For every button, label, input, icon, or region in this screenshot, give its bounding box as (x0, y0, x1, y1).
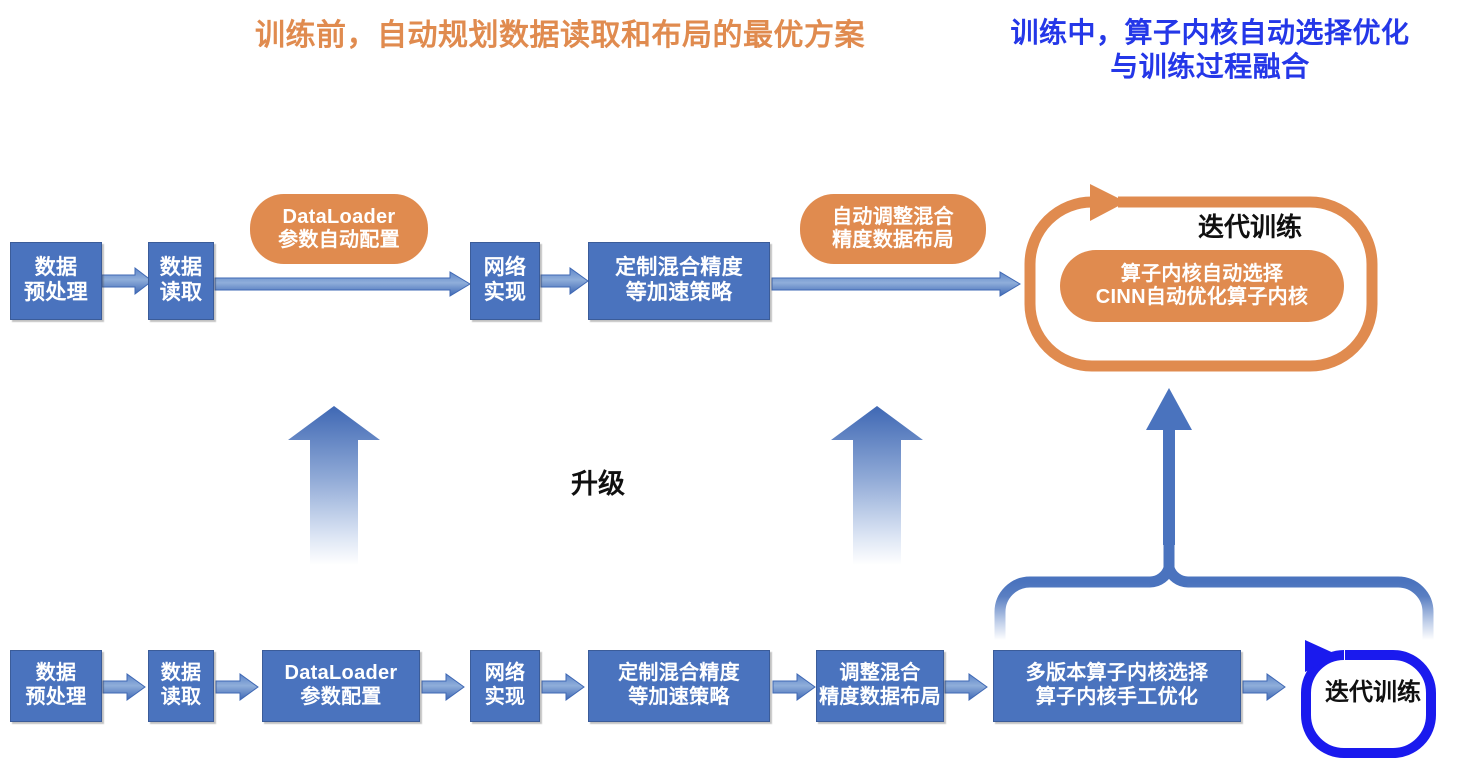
bottom-arrow-4 (542, 674, 584, 700)
bottom-box-data-preprocess[interactable]: 数据 预处理 (10, 650, 102, 722)
title-during-training: 训练中，算子内核自动选择优化 与训练过程融合 (955, 16, 1465, 84)
top-box-data-preprocess[interactable]: 数据 预处理 (10, 242, 102, 320)
merge-bracket-arrow (1000, 388, 1428, 640)
top-box-network-impl[interactable]: 网络 实现 (470, 242, 540, 320)
top-long-arrow-1 (215, 272, 470, 296)
bottom-arrow-2 (216, 674, 258, 700)
bottom-box-dataloader-config[interactable]: DataLoader 参数配置 (262, 650, 420, 722)
top-long-arrow-2 (772, 272, 1020, 296)
bottom-box-network-impl[interactable]: 网络 实现 (470, 650, 540, 722)
bottom-arrow-5 (773, 674, 815, 700)
top-loop-title: 迭代训练 (1120, 207, 1380, 244)
top-box-data-read[interactable]: 数据 读取 (148, 242, 214, 320)
top-arrow-2 (541, 268, 588, 294)
bottom-loop-title: 迭代训练 (1313, 672, 1433, 707)
top-loop-inner-kernel-pill[interactable]: 算子内核自动选择 CINN自动优化算子内核 (1060, 250, 1344, 322)
bottom-arrow-1 (103, 674, 145, 700)
bottom-box-mixed-precision[interactable]: 定制混合精度 等加速策略 (588, 650, 770, 722)
callout-dataloader-auto-config[interactable]: DataLoader 参数自动配置 (250, 194, 428, 264)
top-arrow-1 (102, 268, 152, 294)
bottom-arrow-3 (422, 674, 464, 700)
bottom-arrow-6 (945, 674, 987, 700)
bottom-box-data-read[interactable]: 数据 读取 (148, 650, 214, 722)
title-before-training: 训练前，自动规划数据读取和布局的最优方案 (140, 18, 980, 55)
connector-layer (0, 0, 1474, 760)
bottom-arrow-7 (1243, 674, 1285, 700)
upgrade-arrow-right (831, 406, 923, 565)
upgrade-label: 升级 (528, 462, 668, 501)
callout-auto-adjust-layout[interactable]: 自动调整混合 精度数据布局 (800, 194, 986, 264)
bottom-box-kernel-select[interactable]: 多版本算子内核选择 算子内核手工优化 (993, 650, 1241, 722)
upgrade-arrow-left (288, 406, 380, 565)
diagram-canvas: 训练前，自动规划数据读取和布局的最优方案 训练中，算子内核自动选择优化 与训练过… (0, 0, 1474, 760)
bottom-box-adjust-layout[interactable]: 调整混合 精度数据布局 (816, 650, 944, 722)
top-box-mixed-precision[interactable]: 定制混合精度 等加速策略 (588, 242, 770, 320)
